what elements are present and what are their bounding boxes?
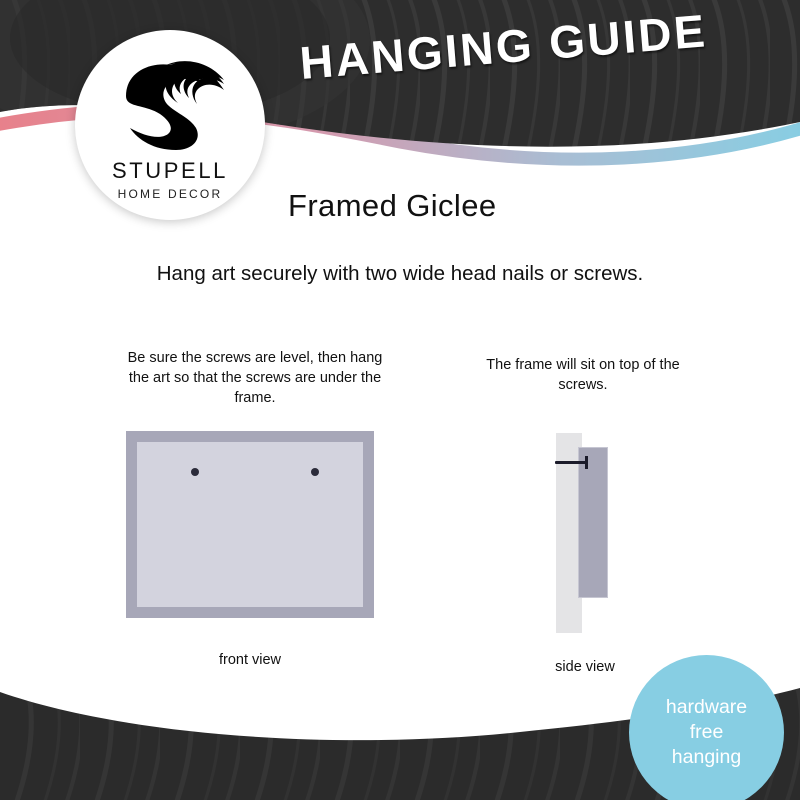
side-view-frame: [578, 447, 608, 598]
front-view-diagram: [126, 431, 374, 618]
hardware-free-hanging-badge: hardware free hanging: [629, 655, 784, 800]
badge-line-3: hanging: [672, 745, 741, 770]
brand-name: STUPELL: [112, 158, 228, 184]
hanging-guide-page: HANGING GUIDE STUPELL HOME DECOR Framed …: [0, 0, 800, 800]
lead-instruction-text: Hang art securely with two wide head nai…: [0, 262, 800, 286]
side-view-diagram: [545, 425, 625, 640]
brand-logo-badge: STUPELL HOME DECOR: [75, 30, 265, 220]
side-view-caption: The frame will sit on top of the screws.: [478, 355, 688, 395]
front-view-caption: Be sure the screws are level, then hang …: [124, 348, 386, 408]
screw-dot-right-icon: [311, 468, 319, 476]
brand-tagline: HOME DECOR: [118, 187, 223, 201]
screw-dot-left-icon: [191, 468, 199, 476]
badge-line-1: hardware: [666, 695, 747, 720]
product-type-heading: Framed Giclee: [288, 188, 497, 224]
screw-shaft-icon: [555, 461, 587, 464]
front-view-label: front view: [126, 652, 374, 668]
badge-line-2: free: [690, 720, 724, 745]
front-view-mat: [137, 442, 363, 607]
screw-head-icon: [585, 456, 588, 469]
stupell-swirl-s-logo-icon: [114, 56, 226, 152]
